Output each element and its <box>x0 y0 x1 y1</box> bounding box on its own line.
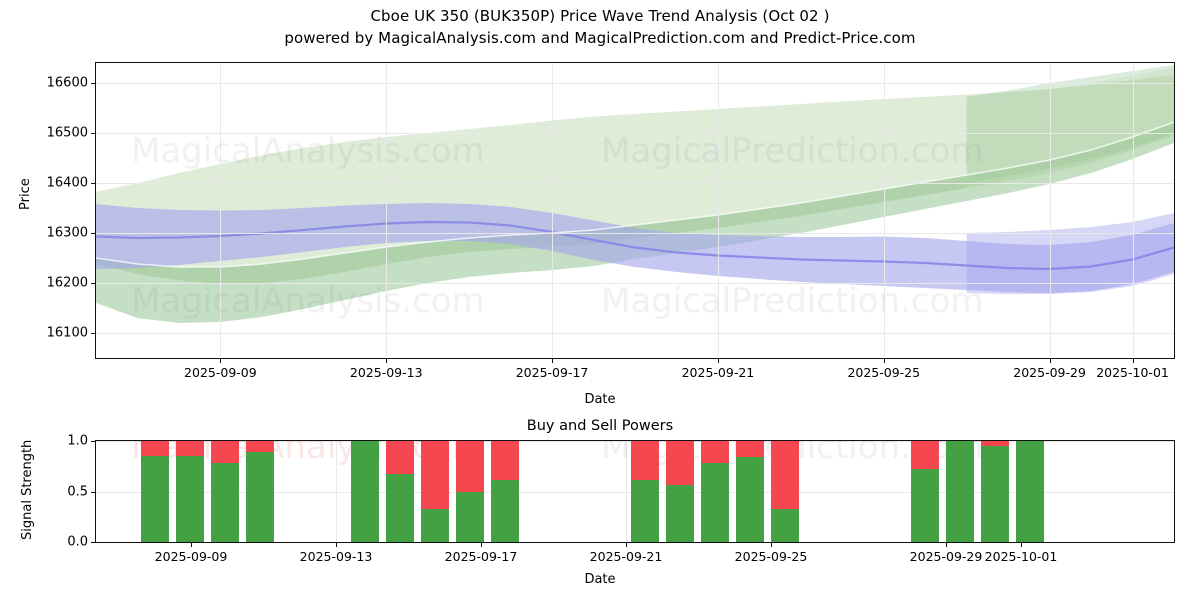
signal-bar[interactable] <box>351 441 379 542</box>
price-y-tick-mark <box>91 233 95 234</box>
signal-y-tick-mark <box>91 492 95 493</box>
sell-power-segment <box>421 441 449 509</box>
signal-chart-title: Buy and Sell Powers <box>0 418 1200 434</box>
price-y-tick-mark <box>91 83 95 84</box>
price-gridline-h <box>96 183 1174 184</box>
buy-power-segment <box>771 509 799 542</box>
price-y-tick-label: 16200 <box>47 276 88 291</box>
buy-power-segment <box>736 457 764 542</box>
price-x-tick-label: 2025-09-13 <box>350 365 423 380</box>
buy-power-segment <box>211 463 239 542</box>
signal-bar[interactable] <box>141 441 169 542</box>
signal-bar[interactable] <box>771 441 799 542</box>
sell-power-segment <box>631 441 659 480</box>
price-y-tick-mark <box>91 333 95 334</box>
title-block: Cboe UK 350 (BUK350P) Price Wave Trend A… <box>0 6 1200 50</box>
price-x-tick-mark <box>552 359 553 363</box>
price-x-tick-mark <box>1133 359 1134 363</box>
buy-power-segment <box>666 485 694 542</box>
buy-power-segment <box>946 441 974 542</box>
signal-x-axis-title: Date <box>0 572 1200 587</box>
signal-x-tick-mark <box>1021 543 1022 547</box>
signal-y-tick-label: 0.5 <box>67 484 88 499</box>
signal-bar[interactable] <box>456 441 484 542</box>
price-x-tick-mark <box>1050 359 1051 363</box>
buy-power-segment <box>631 480 659 542</box>
buy-power-segment <box>456 492 484 543</box>
signal-x-tick-label: 2025-09-29 <box>910 549 983 564</box>
signal-gridline-v <box>626 441 627 542</box>
signal-x-tick-mark <box>191 543 192 547</box>
price-chart-plot-area: MagicalAnalysis.comMagicalPrediction.com… <box>95 62 1175 359</box>
price-gridline-h <box>96 133 1174 134</box>
buy-power-segment <box>386 474 414 542</box>
signal-gridline-h <box>96 542 1174 543</box>
price-gridline-v <box>1133 63 1134 358</box>
signal-chart-plot-area: MagicalAnalysis.comMagicalPrediction.com <box>95 440 1175 543</box>
price-y-tick-label: 16300 <box>47 226 88 241</box>
signal-gridline-v <box>336 441 337 542</box>
price-wave-bands <box>96 63 1174 358</box>
divergence-wedge-2 <box>967 213 1174 294</box>
sell-power-segment <box>701 441 729 463</box>
signal-x-tick-label: 2025-10-01 <box>985 549 1058 564</box>
buy-power-segment <box>421 509 449 542</box>
signal-y-tick-mark <box>91 542 95 543</box>
sell-power-segment <box>456 441 484 492</box>
sell-power-segment <box>911 441 939 469</box>
sell-power-segment <box>666 441 694 485</box>
buy-power-segment <box>701 463 729 542</box>
price-x-tick-mark <box>386 359 387 363</box>
price-gridline-v <box>884 63 885 358</box>
signal-bar[interactable] <box>736 441 764 542</box>
signal-bar[interactable] <box>701 441 729 542</box>
signal-x-tick-label: 2025-09-25 <box>735 549 808 564</box>
price-x-tick-mark <box>220 359 221 363</box>
signal-x-tick-mark <box>946 543 947 547</box>
sell-power-segment <box>981 441 1009 446</box>
signal-y-axis-title: Signal Strength <box>20 440 35 540</box>
buy-power-segment <box>141 456 169 542</box>
signal-bar[interactable] <box>491 441 519 542</box>
price-gridline-v <box>220 63 221 358</box>
price-y-tick-label: 16400 <box>47 176 88 191</box>
buy-power-segment <box>246 452 274 542</box>
signal-bar[interactable] <box>666 441 694 542</box>
sell-power-segment <box>141 441 169 456</box>
buy-power-segment <box>911 469 939 542</box>
signal-bar[interactable] <box>421 441 449 542</box>
signal-bar[interactable] <box>631 441 659 542</box>
signal-bar[interactable] <box>386 441 414 542</box>
price-y-tick-mark <box>91 283 95 284</box>
signal-x-tick-label: 2025-09-21 <box>590 549 663 564</box>
buy-power-segment <box>491 480 519 542</box>
signal-y-tick-label: 1.0 <box>67 434 88 449</box>
price-gridline-v <box>718 63 719 358</box>
price-gridline-v <box>552 63 553 358</box>
price-x-tick-label: 2025-10-01 <box>1096 365 1169 380</box>
signal-bar[interactable] <box>176 441 204 542</box>
signal-bar[interactable] <box>911 441 939 542</box>
page-title: Cboe UK 350 (BUK350P) Price Wave Trend A… <box>0 6 1200 28</box>
price-y-tick-label: 16600 <box>47 76 88 91</box>
price-y-tick-label: 16500 <box>47 126 88 141</box>
price-y-axis-title: Price <box>18 178 33 210</box>
price-y-tick-label: 16100 <box>47 326 88 341</box>
price-y-tick-mark <box>91 133 95 134</box>
sell-power-segment <box>211 441 239 463</box>
price-x-tick-mark <box>718 359 719 363</box>
sell-power-segment <box>736 441 764 457</box>
price-x-axis-title: Date <box>0 392 1200 407</box>
price-x-tick-label: 2025-09-17 <box>516 365 589 380</box>
price-gridline-h <box>96 83 1174 84</box>
signal-bar[interactable] <box>981 441 1009 542</box>
price-gridline-h <box>96 333 1174 334</box>
signal-x-tick-label: 2025-09-17 <box>445 549 518 564</box>
signal-x-tick-mark <box>481 543 482 547</box>
chart-page: Cboe UK 350 (BUK350P) Price Wave Trend A… <box>0 0 1200 600</box>
price-x-tick-mark <box>884 359 885 363</box>
signal-bar[interactable] <box>1016 441 1044 542</box>
price-gridline-h <box>96 283 1174 284</box>
signal-x-tick-mark <box>771 543 772 547</box>
page-subtitle: powered by MagicalAnalysis.com and Magic… <box>0 28 1200 50</box>
signal-bar[interactable] <box>946 441 974 542</box>
price-x-tick-label: 2025-09-09 <box>184 365 257 380</box>
sell-power-segment <box>176 441 204 456</box>
signal-x-tick-label: 2025-09-09 <box>155 549 228 564</box>
price-x-tick-label: 2025-09-29 <box>1013 365 1086 380</box>
price-y-tick-mark <box>91 183 95 184</box>
price-gridline-v <box>386 63 387 358</box>
price-x-tick-label: 2025-09-21 <box>682 365 755 380</box>
buy-power-segment <box>351 441 379 542</box>
buy-power-segment <box>1016 441 1044 542</box>
price-gridline-h <box>96 233 1174 234</box>
signal-bar[interactable] <box>211 441 239 542</box>
signal-x-tick-mark <box>626 543 627 547</box>
sell-power-segment <box>246 441 274 452</box>
sell-power-segment <box>771 441 799 509</box>
sell-power-segment <box>386 441 414 474</box>
signal-x-tick-label: 2025-09-13 <box>300 549 373 564</box>
signal-x-tick-mark <box>336 543 337 547</box>
buy-power-segment <box>176 456 204 542</box>
signal-bar[interactable] <box>246 441 274 542</box>
sell-power-segment <box>491 441 519 480</box>
signal-y-tick-mark <box>91 441 95 442</box>
buy-power-segment <box>981 446 1009 542</box>
price-gridline-v <box>1050 63 1051 358</box>
signal-y-tick-label: 0.0 <box>67 535 88 550</box>
price-x-tick-label: 2025-09-25 <box>847 365 920 380</box>
